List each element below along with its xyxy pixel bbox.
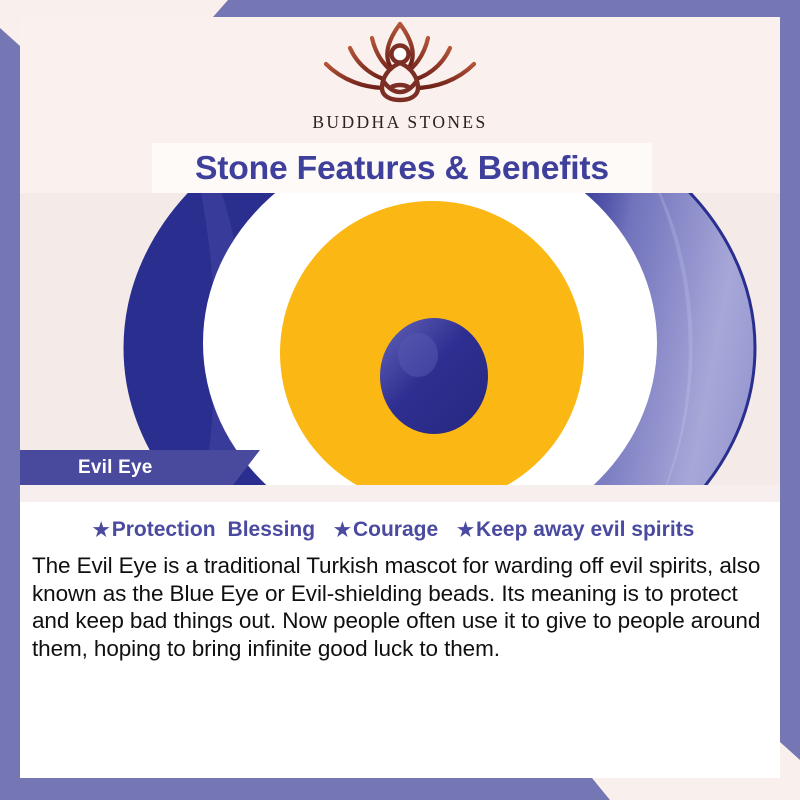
- page-title: Stone Features & Benefits: [147, 143, 657, 193]
- brand-name: BUDDHA STONES: [0, 112, 800, 133]
- star-icon: ★: [457, 520, 474, 541]
- feature-list: ★ProtectionBlessing ★Courage ★Keep away …: [20, 518, 780, 542]
- evil-eye-bead-image: [20, 193, 780, 485]
- content-card: ★ProtectionBlessing ★Courage ★Keep away …: [20, 502, 780, 778]
- frame-band-bottom: [0, 778, 800, 800]
- hero-label-text: Evil Eye: [78, 457, 152, 479]
- frame-band-top: [0, 0, 800, 17]
- divider-strip: [20, 485, 780, 502]
- star-icon: ★: [334, 520, 351, 541]
- feature-item-courage: Courage: [353, 518, 438, 541]
- hero-label-ribbon: Evil Eye: [20, 450, 260, 485]
- evil-eye-graphic: [20, 193, 780, 485]
- feature-group-1: ★ProtectionBlessing: [93, 518, 321, 541]
- brand-logo: BUDDHA STONES: [0, 18, 800, 133]
- infographic-page: BUDDHA STONES Stone Features & Benefits: [0, 0, 800, 800]
- feature-item-protection: Protection: [112, 518, 216, 541]
- feature-group-3: ★Keep away evil spirits: [457, 518, 694, 541]
- lotus-meditation-icon: [300, 18, 500, 110]
- star-icon: ★: [93, 520, 110, 541]
- feature-item-blessing: Blessing: [228, 518, 316, 541]
- feature-item-keep-away-evil-spirits: Keep away evil spirits: [476, 518, 694, 541]
- description-text: The Evil Eye is a traditional Turkish ma…: [32, 552, 774, 662]
- feature-group-2: ★Courage: [334, 518, 444, 541]
